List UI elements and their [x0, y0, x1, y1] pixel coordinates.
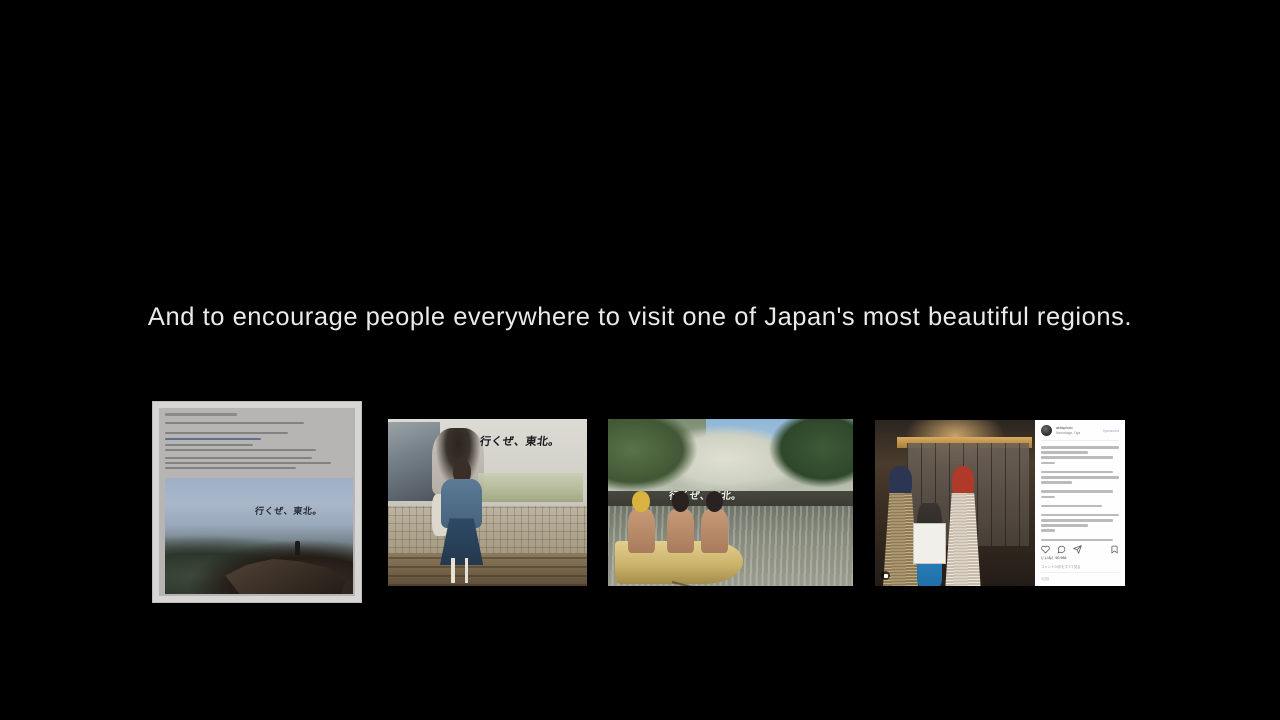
caption-line: [1041, 471, 1113, 474]
child-leg: [465, 558, 469, 583]
post-caption: [1041, 441, 1119, 542]
gallery-card-rowboat: 行くぜ、東北。: [608, 419, 853, 586]
boy-head: [672, 491, 689, 512]
child-figure: [917, 503, 943, 586]
caption-line: [1041, 451, 1088, 454]
platform-steps: [388, 553, 587, 586]
blog-body-line: [165, 449, 316, 451]
station-poster: 行くぜ、東北。: [388, 419, 587, 506]
bookmark-icon[interactable]: [1110, 545, 1119, 554]
boy-figure: [628, 509, 655, 552]
blog-body-line: [165, 432, 288, 434]
campaign-text: 行くぜ、東北。: [255, 504, 324, 517]
caption-line: [1041, 456, 1113, 459]
person-silhouette: [295, 541, 300, 555]
media-gallery: 行くぜ、東北。 行くぜ、東北。: [0, 0, 1280, 720]
gallery-card-instagram-post: akitaphoto Namahage, Oga Sponsored: [875, 420, 1125, 586]
gallery-card-station-poster: 行くぜ、東北。: [388, 419, 587, 586]
blog-body-line: [165, 444, 253, 446]
cherry-blossom-trees: [608, 419, 853, 496]
boy-figure: [667, 509, 694, 552]
share-icon[interactable]: [1073, 545, 1082, 554]
caption-line: [1041, 490, 1113, 493]
post-location[interactable]: Namahage, Oga: [1056, 431, 1099, 435]
caption-line: [1041, 519, 1113, 522]
namahage-figure: [945, 466, 980, 586]
campaign-text: 行くぜ、東北。: [479, 433, 561, 449]
caption-line: [1041, 524, 1088, 527]
carousel-icon: [881, 571, 890, 580]
post-action-bar: [1041, 542, 1119, 556]
instagram-post-header: akitaphoto Namahage, Oga Sponsored: [1041, 425, 1119, 441]
boy-figure: [701, 509, 728, 552]
caption-line: [1041, 446, 1119, 449]
account-username[interactable]: akitaphoto: [1056, 426, 1099, 430]
instagram-detail-panel: akitaphoto Namahage, Oga Sponsored: [1035, 420, 1125, 586]
poster-landscape: [478, 473, 583, 503]
blog-body-line: [165, 457, 312, 459]
blog-link-line: [165, 438, 261, 440]
caption-line: [1041, 514, 1119, 517]
caption-line: [1041, 476, 1119, 479]
blog-article-body: 行くぜ、東北。: [159, 408, 355, 596]
sponsored-label: Sponsored: [1103, 429, 1119, 433]
straw-costume: [945, 493, 980, 586]
blog-body-line: [165, 462, 331, 464]
instagram-photo[interactable]: [875, 420, 1035, 586]
account-names: akitaphoto Namahage, Oga: [1056, 426, 1099, 435]
caption-line: [1041, 505, 1102, 508]
heart-icon[interactable]: [1041, 545, 1050, 554]
caption-line: [1041, 481, 1072, 484]
caption-line: [1041, 462, 1055, 465]
view-comments-link[interactable]: コメント20件をすべて見る: [1041, 564, 1119, 572]
blog-photo: 行くぜ、東北。: [165, 478, 353, 594]
comment-icon[interactable]: [1057, 545, 1066, 554]
blog-body-line: [165, 467, 296, 469]
child-figure: [436, 459, 488, 583]
boy-head: [632, 491, 649, 512]
rock-shape: [225, 545, 345, 594]
post-timestamp: 3日前: [1041, 572, 1119, 581]
like-count: いいね！50,988: [1041, 556, 1119, 564]
caption-line: [1041, 496, 1055, 499]
caption-line: [1041, 539, 1113, 542]
avatar[interactable]: [1041, 425, 1052, 436]
caption-line: [1041, 529, 1055, 532]
held-sign: [913, 523, 946, 565]
child-leg: [451, 558, 455, 583]
blog-title-line: [165, 413, 237, 416]
blog-meta-line: [165, 422, 304, 424]
platform-tiles: [388, 506, 587, 556]
gallery-card-blog-article: 行くぜ、東北。: [153, 402, 361, 602]
boy-head: [706, 491, 723, 512]
video-frame: And to encourage people everywhere to vi…: [0, 0, 1280, 720]
